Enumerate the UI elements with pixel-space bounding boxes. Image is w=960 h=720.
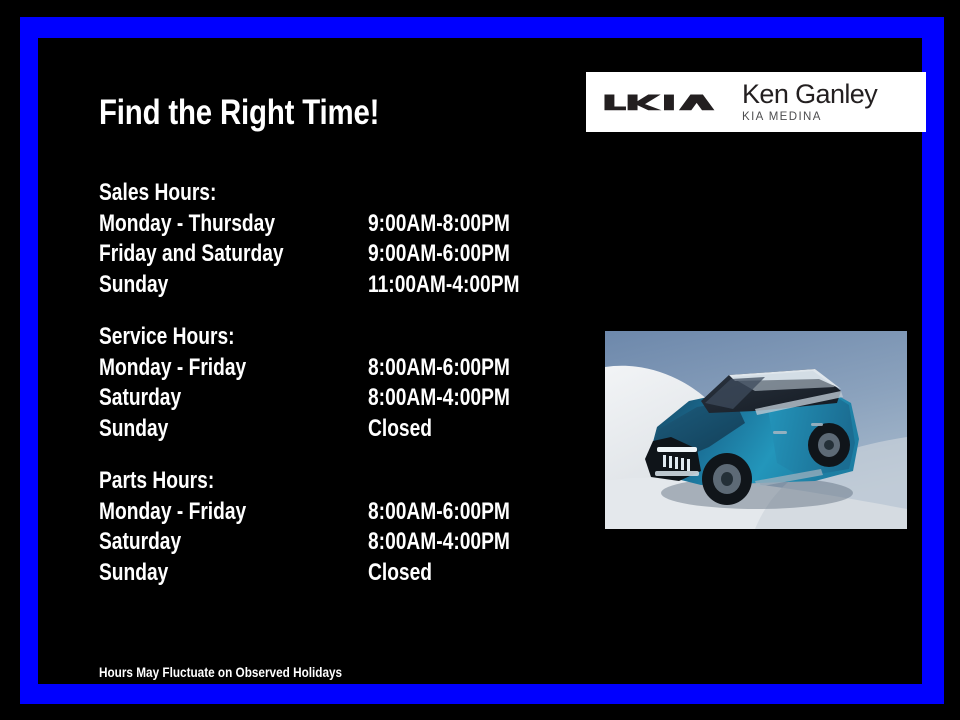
slide-canvas: Find the Right Time! Sales Hours: Monday… <box>0 0 960 720</box>
hours-day-label: Monday - Friday <box>99 353 246 384</box>
hours-time-value: 9:00AM-8:00PM <box>368 209 510 240</box>
hours-day-label: Sunday <box>99 270 168 301</box>
hours-time-value: 9:00AM-6:00PM <box>368 239 510 270</box>
hours-time-value: 8:00AM-6:00PM <box>368 353 510 384</box>
hours-time-value: 11:00AM-4:00PM <box>368 270 520 301</box>
hours-time-value: 8:00AM-4:00PM <box>368 383 510 414</box>
hours-day-label: Sunday <box>99 558 168 589</box>
hours-day-label: Sunday <box>99 414 168 445</box>
hours-heading-sales: Sales Hours: <box>99 178 483 209</box>
hours-list: Sales Hours: Monday - Thursday 9:00AM-8:… <box>99 178 579 610</box>
hours-row: Saturday 8:00AM-4:00PM <box>99 383 579 414</box>
hours-heading-parts: Parts Hours: <box>99 466 483 497</box>
dealer-logo: Ken Ganley KIA MEDINA <box>586 72 926 132</box>
hours-time-value: 8:00AM-6:00PM <box>368 497 510 528</box>
hours-time-value: 8:00AM-4:00PM <box>368 527 510 558</box>
hours-time-value: Closed <box>368 414 432 445</box>
hours-day-label: Monday - Thursday <box>99 209 275 240</box>
hours-row: Monday - Friday 8:00AM-6:00PM <box>99 353 579 384</box>
hours-heading-service: Service Hours: <box>99 322 483 353</box>
hours-block-parts: Parts Hours: Monday - Friday 8:00AM-6:00… <box>99 466 579 588</box>
hours-row: Saturday 8:00AM-4:00PM <box>99 527 579 558</box>
hours-day-label: Friday and Saturday <box>99 239 284 270</box>
hours-block-service: Service Hours: Monday - Friday 8:00AM-6:… <box>99 322 579 444</box>
hours-day-label: Monday - Friday <box>99 497 246 528</box>
kia-logo-icon <box>602 87 726 117</box>
hours-row: Sunday Closed <box>99 414 579 445</box>
dealer-location: KIA MEDINA <box>742 112 877 124</box>
page-title: Find the Right Time! <box>99 95 379 132</box>
hours-day-label: Saturday <box>99 383 181 414</box>
hours-row: Sunday 11:00AM-4:00PM <box>99 270 579 301</box>
dealer-name-lockup: Ken Ganley KIA MEDINA <box>742 81 877 124</box>
hours-day-label: Saturday <box>99 527 181 558</box>
hours-row: Friday and Saturday 9:00AM-6:00PM <box>99 239 579 270</box>
kia-electric-suv-photo <box>605 331 907 529</box>
hours-row: Monday - Friday 8:00AM-6:00PM <box>99 497 579 528</box>
slide-content-area: Find the Right Time! Sales Hours: Monday… <box>38 38 922 684</box>
hours-row: Monday - Thursday 9:00AM-8:00PM <box>99 209 579 240</box>
hours-block-sales: Sales Hours: Monday - Thursday 9:00AM-8:… <box>99 178 579 300</box>
holiday-disclaimer: Hours May Fluctuate on Observed Holidays <box>99 663 342 681</box>
hours-time-value: Closed <box>368 558 432 589</box>
hours-row: Sunday Closed <box>99 558 579 589</box>
dealer-name: Ken Ganley <box>742 81 877 108</box>
slide-border: Find the Right Time! Sales Hours: Monday… <box>20 17 944 704</box>
